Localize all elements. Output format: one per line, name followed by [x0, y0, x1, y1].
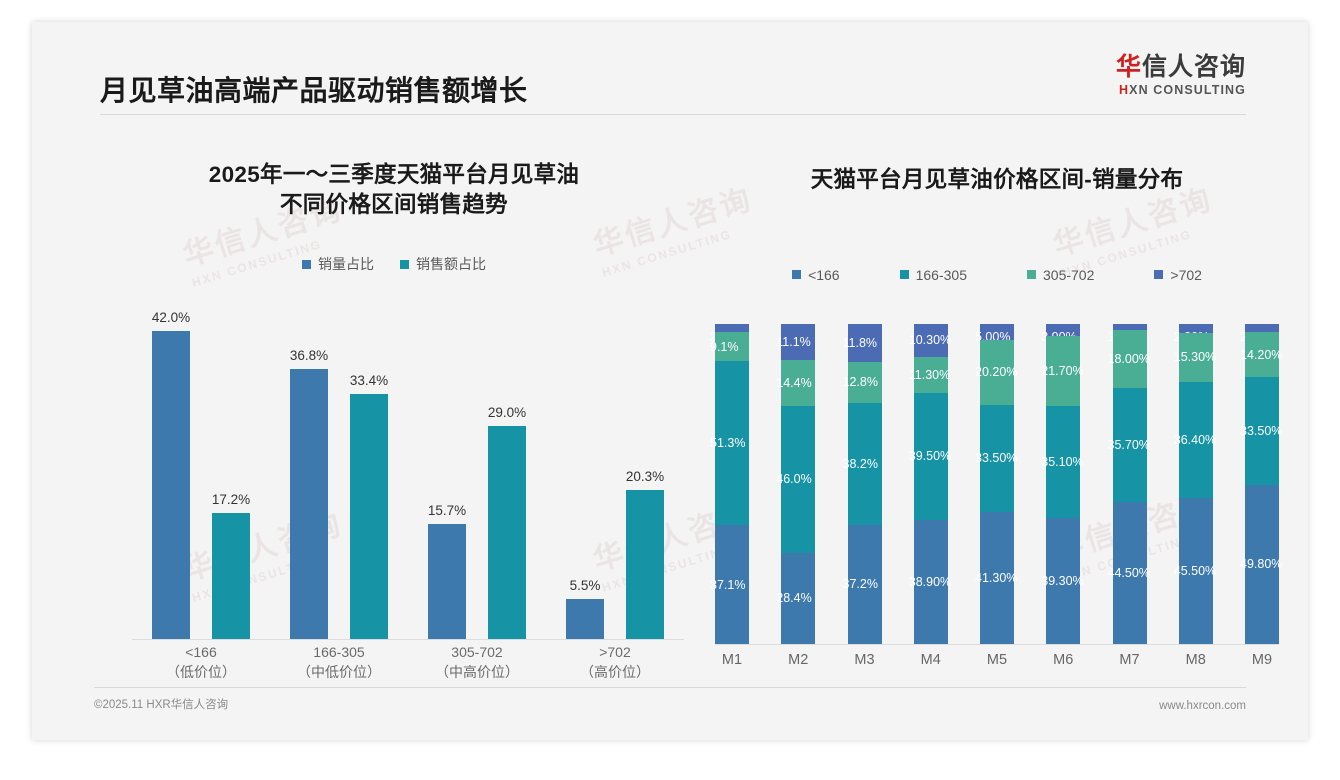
- stacked-bar-segment[interactable]: 11.1%: [781, 324, 815, 360]
- segment-value-label: 39.30%: [1041, 574, 1083, 588]
- footer-website[interactable]: www.hxrcon.com: [1159, 700, 1246, 712]
- segment-value-label: 35.10%: [1041, 455, 1083, 469]
- left-chart-legend: 销量占比 销售额占比: [94, 254, 694, 274]
- stacked-bar-segment[interactable]: 35.10%: [1046, 406, 1080, 518]
- bar-value-label: 36.8%: [290, 348, 328, 363]
- segment-value-label: 37.2%: [843, 577, 878, 591]
- x-axis-label: M2: [781, 652, 815, 668]
- slide: 华信人咨询 HXN CONSULTING 华信人咨询 HXN CONSULTIN…: [32, 22, 1308, 740]
- x-axis-label: M4: [914, 652, 948, 668]
- stacked-bar-segment[interactable]: 3.90%: [1046, 324, 1080, 336]
- legend-label: 销售额占比: [416, 254, 486, 274]
- stacked-bar-segment[interactable]: 45.50%: [1179, 498, 1213, 644]
- stacked-bar-segment[interactable]: 36.40%: [1179, 382, 1213, 498]
- bar-column[interactable]: 5.5%: [566, 599, 604, 639]
- bar[interactable]: [566, 599, 604, 639]
- stacked-bar-segment[interactable]: 39.30%: [1046, 518, 1080, 644]
- segment-value-label: 44.50%: [1108, 566, 1150, 580]
- stacked-bar-segment[interactable]: 21.70%: [1046, 336, 1080, 405]
- left-chart-plot: 42.0%17.2%36.8%33.4%15.7%29.0%5.5%20.3% …: [132, 312, 684, 692]
- legend-swatch-icon: [900, 270, 909, 279]
- stacked-bar-segment[interactable]: 28.4%: [781, 553, 815, 644]
- segment-value-label: 10.30%: [909, 333, 951, 347]
- x-axis-label: 166-305（中低价位）: [274, 642, 404, 692]
- segment-value-label: 14.20%: [1240, 348, 1282, 362]
- bar-value-label: 5.5%: [570, 578, 601, 593]
- x-axis-label: >702（高价位）: [550, 642, 680, 692]
- right-chart-plot: 2.5%9.1%51.3%37.1%11.1%14.4%46.0%28.4%11…: [715, 324, 1279, 692]
- stacked-bar-segment[interactable]: 38.2%: [848, 403, 882, 525]
- legend-item[interactable]: >702: [1154, 267, 1202, 283]
- segment-value-label: 11.1%: [776, 335, 811, 349]
- header-divider: [100, 114, 1246, 115]
- logo-char-hua: 华: [1116, 53, 1142, 81]
- legend-swatch-icon: [1154, 270, 1163, 279]
- bar[interactable]: [350, 394, 388, 639]
- bar-column[interactable]: 17.2%: [212, 513, 250, 639]
- segment-value-label: 33.50%: [975, 451, 1017, 465]
- segment-value-label: 15.30%: [1174, 350, 1216, 364]
- stacked-bar-segment[interactable]: 2.50%: [1245, 324, 1279, 332]
- segment-value-label: 38.90%: [909, 575, 951, 589]
- legend-label: <166: [808, 267, 840, 283]
- stacked-bar-segment[interactable]: 41.30%: [980, 512, 1014, 644]
- stacked-bar-segment[interactable]: 38.90%: [914, 520, 948, 644]
- legend-item[interactable]: 销售额占比: [400, 254, 486, 274]
- stacked-bar-column[interactable]: 2.80%15.30%36.40%45.50%: [1179, 324, 1213, 644]
- x-axis-line: [715, 644, 1279, 645]
- left-chart-panel: 2025年一～三季度天猫平台月见草油 不同价格区间销售趋势 销量占比 销售额占比…: [94, 132, 694, 702]
- segment-value-label: 21.70%: [1041, 364, 1083, 378]
- stacked-bar-segment[interactable]: 14.20%: [1245, 332, 1279, 377]
- segment-value-label: 28.4%: [776, 591, 811, 605]
- stacked-bar-column[interactable]: 11.1%14.4%46.0%28.4%: [781, 324, 815, 644]
- stacked-bar-segment[interactable]: 2.80%: [1179, 324, 1213, 333]
- legend-item[interactable]: 销量占比: [302, 254, 374, 274]
- x-axis-label: M8: [1179, 652, 1213, 668]
- x-axis-label: M1: [715, 652, 749, 668]
- bar[interactable]: [290, 369, 328, 639]
- stacked-bar-column[interactable]: 3.90%21.70%35.10%39.30%: [1046, 324, 1080, 644]
- segment-value-label: 36.40%: [1174, 433, 1216, 447]
- stacked-bar-segment[interactable]: 46.0%: [781, 406, 815, 553]
- stacked-bar-segment[interactable]: 11.30%: [914, 357, 948, 393]
- bar-group: 5.5%20.3%: [550, 490, 680, 639]
- stacked-bar-segment[interactable]: 35.70%: [1113, 388, 1147, 502]
- bar-group: 42.0%17.2%: [136, 331, 266, 639]
- footer-divider: [94, 687, 1246, 688]
- bar-value-label: 33.4%: [350, 373, 388, 388]
- bar[interactable]: [488, 426, 526, 639]
- legend-swatch-icon: [1027, 270, 1036, 279]
- bar-column[interactable]: 33.4%: [350, 394, 388, 639]
- legend-item[interactable]: <166: [792, 267, 840, 283]
- x-axis-label: 305-702（中高价位）: [412, 642, 542, 692]
- segment-value-label: 12.8%: [843, 375, 878, 389]
- stacked-bar-segment[interactable]: 37.1%: [715, 525, 749, 644]
- right-chart-title: 天猫平台月见草油价格区间-销量分布: [697, 132, 1297, 195]
- segment-value-label: 11.8%: [843, 336, 878, 350]
- segment-value-label: 35.70%: [1108, 438, 1150, 452]
- segment-value-label: 14.4%: [776, 376, 811, 390]
- legend-label: 166-305: [916, 267, 967, 283]
- logo-chinese: 华信人咨询: [1116, 54, 1246, 80]
- legend-swatch-icon: [302, 260, 311, 269]
- bar-column[interactable]: 15.7%: [428, 524, 466, 639]
- stacked-bar-segment[interactable]: 37.2%: [848, 525, 882, 644]
- footer-copyright: ©2025.11 HXR华信人咨询: [94, 696, 228, 712]
- left-chart-title-line1: 2025年一～三季度天猫平台月见草油: [94, 160, 694, 190]
- x-axis-label: M7: [1113, 652, 1147, 668]
- legend-swatch-icon: [792, 270, 801, 279]
- segment-value-label: 11.30%: [909, 368, 950, 382]
- stacked-bar-column[interactable]: 11.8%12.8%38.2%37.2%: [848, 324, 882, 644]
- stacked-bar-segment[interactable]: 33.50%: [980, 405, 1014, 512]
- stacked-bar-column[interactable]: 2.5%9.1%51.3%37.1%: [715, 324, 749, 644]
- stacked-bar-column[interactable]: 2.50%14.20%33.50%49.80%: [1245, 324, 1279, 644]
- page-title: 月见草油高端产品驱动销售额增长: [100, 69, 528, 109]
- x-axis-labels: M1M2M3M4M5M6M7M8M9: [715, 652, 1279, 668]
- stacked-bar-segment[interactable]: 51.3%: [715, 361, 749, 525]
- stacked-bar-segment[interactable]: 2.5%: [715, 324, 749, 332]
- right-chart-legend: <166166-305305-702>702: [697, 267, 1297, 283]
- bar-column[interactable]: 29.0%: [488, 426, 526, 639]
- segment-value-label: 37.1%: [710, 578, 745, 592]
- segment-value-label: 33.50%: [1240, 424, 1282, 438]
- x-axis-label: M3: [848, 652, 882, 668]
- x-axis-label: M6: [1046, 652, 1080, 668]
- logo-char-h: H: [1119, 83, 1129, 97]
- segment-value-label: 20.20%: [975, 365, 1017, 379]
- stacked-bar-segment[interactable]: 12.8%: [848, 362, 882, 403]
- bar-column[interactable]: 42.0%: [152, 331, 190, 639]
- bar-value-label: 29.0%: [488, 405, 526, 420]
- x-axis-label: M5: [980, 652, 1014, 668]
- bar-groups: 42.0%17.2%36.8%33.4%15.7%29.0%5.5%20.3%: [132, 309, 684, 639]
- bar[interactable]: [152, 331, 190, 639]
- stacked-bar-segment[interactable]: 20.20%: [980, 340, 1014, 405]
- legend-label: >702: [1170, 267, 1202, 283]
- segment-value-label: 46.0%: [776, 472, 811, 486]
- bar-column[interactable]: 36.8%: [290, 369, 328, 639]
- stacked-bar-segment[interactable]: 15.30%: [1179, 333, 1213, 382]
- stacked-bar-segment[interactable]: 10.30%: [914, 324, 948, 357]
- bar-group: 15.7%29.0%: [412, 426, 542, 639]
- stacked-bar-segment[interactable]: 44.50%: [1113, 502, 1147, 644]
- stacked-bars: 2.5%9.1%51.3%37.1%11.1%14.4%46.0%28.4%11…: [715, 324, 1279, 644]
- logo-english-rest: XN CONSULTING: [1129, 83, 1246, 97]
- segment-value-label: 18.00%: [1108, 352, 1150, 366]
- legend-label: 销量占比: [318, 254, 374, 274]
- left-chart-title: 2025年一～三季度天猫平台月见草油 不同价格区间销售趋势: [94, 132, 694, 219]
- bar-value-label: 15.7%: [428, 503, 466, 518]
- stacked-bar-column[interactable]: 5.00%20.20%33.50%41.30%: [980, 324, 1014, 644]
- stacked-bar-segment[interactable]: 11.8%: [848, 324, 882, 362]
- x-axis-labels: <166（低价位）166-305（中低价位）305-702（中高价位）>702（…: [132, 642, 684, 692]
- stacked-bar-column[interactable]: 1.90%18.00%35.70%44.50%: [1113, 324, 1147, 644]
- segment-value-label: 9.1%: [710, 340, 739, 354]
- x-axis-label: <166（低价位）: [136, 642, 266, 692]
- logo-english: HXN CONSULTING: [1116, 83, 1246, 97]
- legend-item[interactable]: 166-305: [900, 267, 967, 283]
- segment-value-label: 49.80%: [1240, 557, 1282, 571]
- legend-item[interactable]: 305-702: [1027, 267, 1094, 283]
- bar-column[interactable]: 20.3%: [626, 490, 664, 639]
- x-axis-label: M9: [1245, 652, 1279, 668]
- legend-swatch-icon: [400, 260, 409, 269]
- right-chart-panel: 天猫平台月见草油价格区间-销量分布 <166166-305305-702>702…: [697, 132, 1297, 702]
- bar-value-label: 20.3%: [626, 469, 664, 484]
- company-logo: 华信人咨询 HXN CONSULTING: [1116, 54, 1246, 97]
- stacked-bar-segment[interactable]: 39.50%: [914, 393, 948, 519]
- x-axis-line: [132, 639, 684, 640]
- bar[interactable]: [212, 513, 250, 639]
- stacked-bar-segment[interactable]: 14.4%: [781, 360, 815, 406]
- bar[interactable]: [428, 524, 466, 639]
- stacked-bar-segment[interactable]: 18.00%: [1113, 330, 1147, 388]
- slide-header: 月见草油高端产品驱动销售额增长 华信人咨询 HXN CONSULTING: [32, 22, 1308, 110]
- segment-value-label: 38.2%: [843, 457, 878, 471]
- left-chart-title-line2: 不同价格区间销售趋势: [94, 190, 694, 220]
- segment-value-label: 39.50%: [909, 449, 951, 463]
- bar-value-label: 17.2%: [212, 492, 250, 507]
- stacked-bar-segment[interactable]: 5.00%: [980, 324, 1014, 340]
- segment-value-label: 41.30%: [975, 571, 1017, 585]
- segment-value-label: 45.50%: [1174, 564, 1216, 578]
- stacked-bar-segment[interactable]: 49.80%: [1245, 485, 1279, 644]
- logo-chinese-rest: 信人咨询: [1142, 53, 1246, 81]
- stacked-bar-column[interactable]: 10.30%11.30%39.50%38.90%: [914, 324, 948, 644]
- legend-label: 305-702: [1043, 267, 1094, 283]
- bar-value-label: 42.0%: [152, 310, 190, 325]
- bar[interactable]: [626, 490, 664, 639]
- segment-value-label: 51.3%: [710, 436, 745, 450]
- bar-group: 36.8%33.4%: [274, 369, 404, 639]
- stacked-bar-segment[interactable]: 33.50%: [1245, 377, 1279, 484]
- stacked-bar-segment[interactable]: 9.1%: [715, 332, 749, 361]
